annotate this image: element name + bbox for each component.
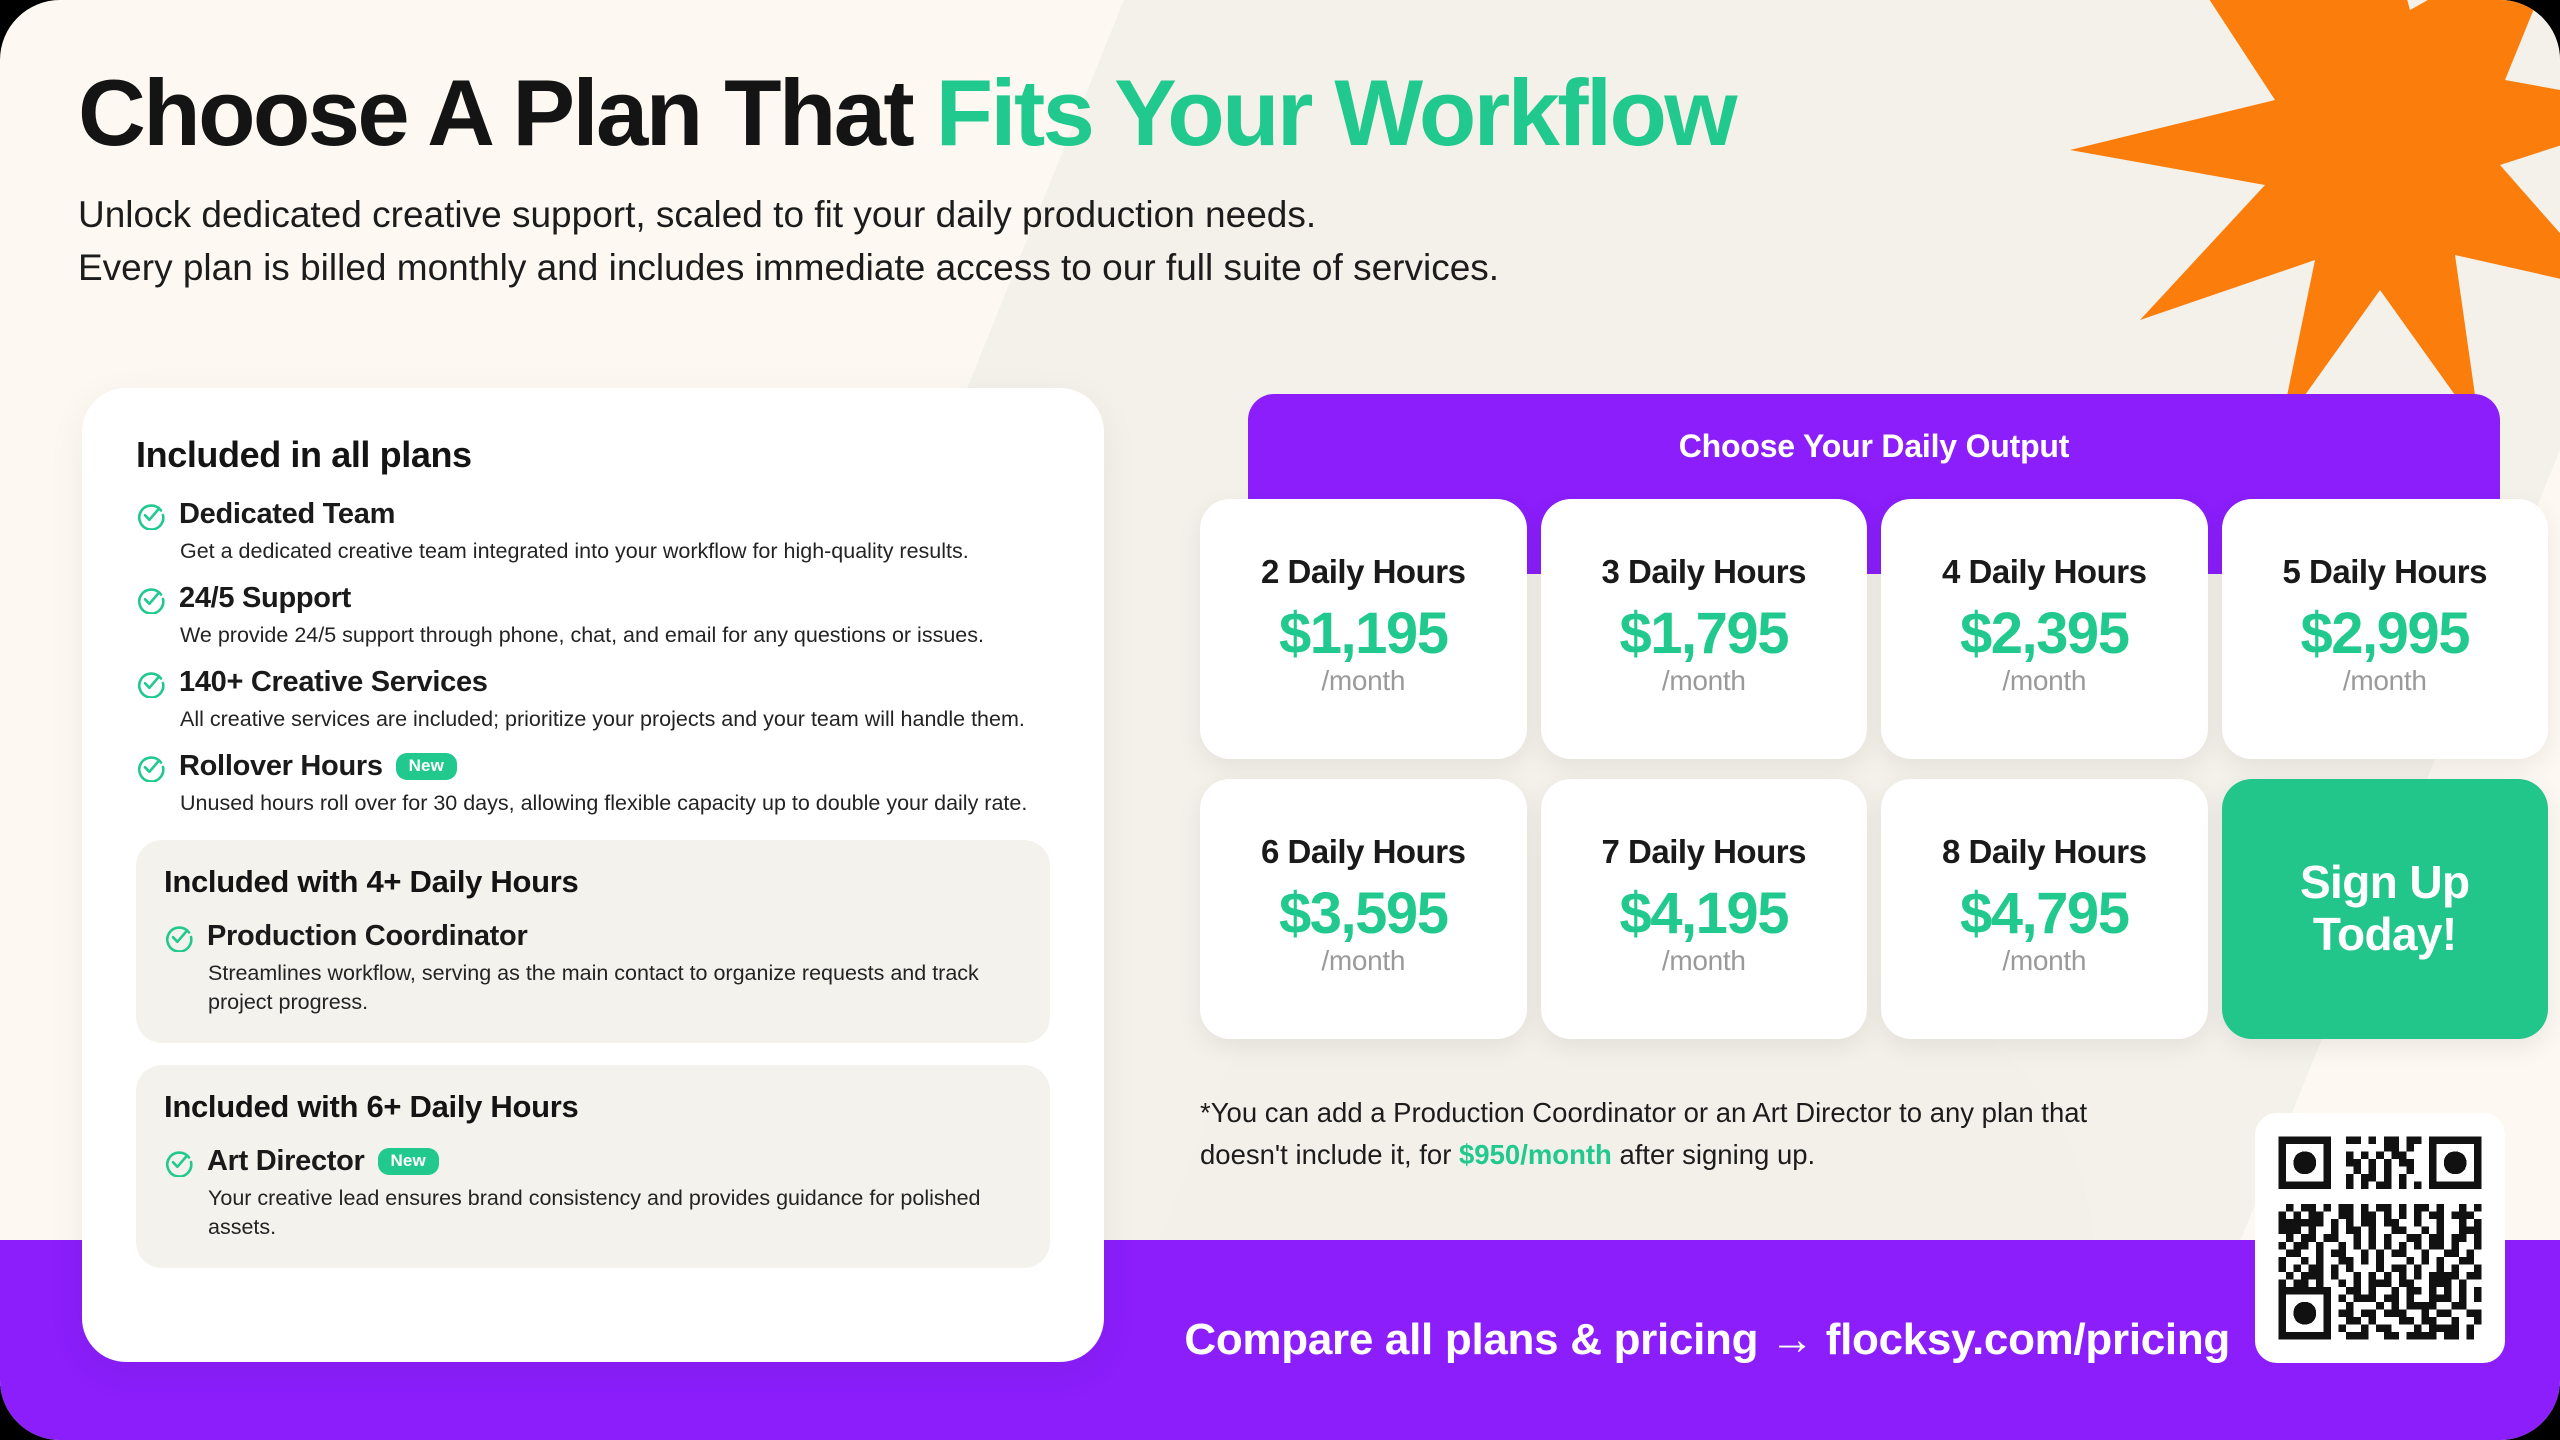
subsection-title: Included with 6+ Daily Hours xyxy=(164,1089,1022,1125)
page-title-accent: Fits Your Workflow xyxy=(936,60,1735,165)
feature-header: 24/5 Support xyxy=(136,582,1050,615)
feature-description: Your creative lead ensures brand consist… xyxy=(208,1184,1022,1242)
plan-hours-label: 5 Daily Hours xyxy=(2283,553,2487,591)
subsection-6plus-hours: Included with 6+ Daily Hours Art Directo… xyxy=(136,1065,1050,1268)
subsection-4plus-hours: Included with 4+ Daily Hours Production … xyxy=(136,840,1050,1043)
plan-hours-label: 6 Daily Hours xyxy=(1261,833,1465,871)
feature-item: Art Director New Your creative lead ensu… xyxy=(164,1145,1022,1242)
pricing-page: Choose A Plan That Fits Your Workflow Un… xyxy=(0,0,2560,1440)
plan-card-8-hours[interactable]: 8 Daily Hours $4,795 /month xyxy=(1881,779,2208,1039)
feature-header: Rollover Hours New xyxy=(136,750,1050,783)
feature-item: Dedicated Team Get a dedicated creative … xyxy=(136,498,1050,566)
plan-period: /month xyxy=(1321,945,1405,977)
feature-header: Art Director New xyxy=(164,1145,1022,1178)
plan-period: /month xyxy=(1321,665,1405,697)
plan-hours-label: 2 Daily Hours xyxy=(1261,553,1465,591)
plan-price: $2,395 xyxy=(1960,605,2128,663)
plan-card-3-hours[interactable]: 3 Daily Hours $1,795 /month xyxy=(1541,499,1868,759)
sign-up-line2: Today! xyxy=(2313,908,2457,960)
feature-description: Unused hours roll over for 30 days, allo… xyxy=(180,789,1050,818)
plan-price: $1,195 xyxy=(1279,605,1447,663)
feature-name: 140+ Creative Services xyxy=(179,666,488,699)
sign-up-button[interactable]: Sign Up Today! xyxy=(2222,779,2549,1039)
plan-hours-label: 3 Daily Hours xyxy=(1602,553,1806,591)
new-badge: New xyxy=(378,1148,439,1175)
plan-price: $4,795 xyxy=(1960,885,2128,943)
feature-header: Dedicated Team xyxy=(136,498,1050,531)
feature-item: 24/5 Support We provide 24/5 support thr… xyxy=(136,582,1050,650)
plan-price: $1,795 xyxy=(1620,605,1788,663)
check-circle-icon xyxy=(136,584,166,614)
plan-period: /month xyxy=(1662,665,1746,697)
page-title: Choose A Plan That Fits Your Workflow xyxy=(78,62,2178,164)
page-header: Choose A Plan That Fits Your Workflow Un… xyxy=(78,62,2178,295)
plan-period: /month xyxy=(2002,945,2086,977)
feature-description: Get a dedicated creative team integrated… xyxy=(180,537,1050,566)
plan-price: $3,595 xyxy=(1279,885,1447,943)
feature-name: Production Coordinator xyxy=(207,920,527,953)
check-circle-icon xyxy=(164,1147,194,1177)
check-circle-icon xyxy=(136,668,166,698)
plan-hours-label: 7 Daily Hours xyxy=(1602,833,1806,871)
included-features-title: Included in all plans xyxy=(136,434,1050,476)
sign-up-line1: Sign Up xyxy=(2300,856,2470,908)
check-circle-icon xyxy=(136,752,166,782)
feature-name: 24/5 Support xyxy=(179,582,351,615)
feature-item: Production Coordinator Streamlines workf… xyxy=(164,920,1022,1017)
page-subtitle-line2: Every plan is billed monthly and include… xyxy=(78,247,1499,288)
plan-price: $2,995 xyxy=(2301,605,2469,663)
page-title-plain: Choose A Plan That xyxy=(78,60,936,165)
check-circle-icon xyxy=(164,922,194,952)
page-subtitle-line1: Unlock dedicated creative support, scale… xyxy=(78,194,1316,235)
included-features-card: Included in all plans Dedicated Team Get… xyxy=(82,388,1104,1362)
feature-header: Production Coordinator xyxy=(164,920,1022,953)
check-circle-icon xyxy=(136,500,166,530)
footnote-highlight: $950/month xyxy=(1459,1139,1612,1170)
plan-period: /month xyxy=(2343,665,2427,697)
page-subtitle: Unlock dedicated creative support, scale… xyxy=(78,188,2178,295)
new-badge: New xyxy=(396,753,457,780)
sign-up-label: Sign Up Today! xyxy=(2300,857,2470,960)
feature-name: Dedicated Team xyxy=(179,498,395,531)
feature-item: 140+ Creative Services All creative serv… xyxy=(136,666,1050,734)
footnote-part2: after signing up. xyxy=(1612,1139,1815,1170)
pricing-grid: 2 Daily Hours $1,195 /month 3 Daily Hour… xyxy=(1200,499,2548,1039)
qr-code-matrix xyxy=(2271,1129,2489,1347)
plan-price: $4,195 xyxy=(1620,885,1788,943)
plan-period: /month xyxy=(2002,665,2086,697)
plan-hours-label: 4 Daily Hours xyxy=(1942,553,2146,591)
plan-card-6-hours[interactable]: 6 Daily Hours $3,595 /month xyxy=(1200,779,1527,1039)
feature-name: Rollover Hours xyxy=(179,750,383,783)
qr-code-icon[interactable] xyxy=(2255,1113,2505,1363)
feature-item: Rollover Hours New Unused hours roll ove… xyxy=(136,750,1050,818)
feature-name: Art Director xyxy=(207,1145,365,1178)
plan-card-2-hours[interactable]: 2 Daily Hours $1,195 /month xyxy=(1200,499,1527,759)
plan-card-5-hours[interactable]: 5 Daily Hours $2,995 /month xyxy=(2222,499,2549,759)
subsection-title: Included with 4+ Daily Hours xyxy=(164,864,1022,900)
feature-header: 140+ Creative Services xyxy=(136,666,1050,699)
plan-card-7-hours[interactable]: 7 Daily Hours $4,195 /month xyxy=(1541,779,1868,1039)
plan-card-4-hours[interactable]: 4 Daily Hours $2,395 /month xyxy=(1881,499,2208,759)
feature-description: All creative services are included; prio… xyxy=(180,705,1050,734)
pricing-footnote: *You can add a Production Coordinator or… xyxy=(1200,1092,2120,1176)
daily-output-header-title: Choose Your Daily Output xyxy=(1248,394,2500,465)
footer-cta-link[interactable]: Compare all plans & pricing → flocksy.co… xyxy=(1184,1315,2230,1365)
feature-description: We provide 24/5 support through phone, c… xyxy=(180,621,1050,650)
plan-hours-label: 8 Daily Hours xyxy=(1942,833,2146,871)
feature-description: Streamlines workflow, serving as the mai… xyxy=(208,959,1022,1017)
plan-period: /month xyxy=(1662,945,1746,977)
